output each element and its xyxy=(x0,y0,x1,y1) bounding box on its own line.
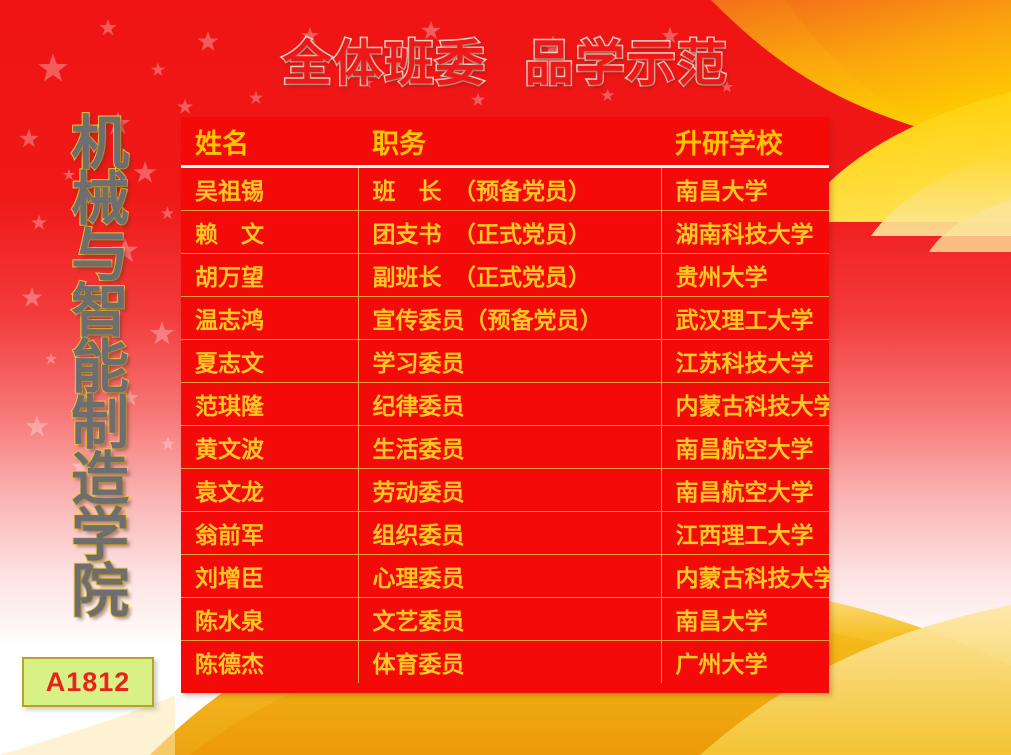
member-school: 南昌航空大学 xyxy=(661,469,829,512)
member-role: 生活委员 xyxy=(358,426,661,469)
member-role: 副班长 （正式党员） xyxy=(358,254,661,297)
member-school: 广州大学 xyxy=(661,641,829,684)
member-role: 心理委员 xyxy=(358,555,661,598)
member-name: 赖 文 xyxy=(181,211,358,254)
member-name: 黄文波 xyxy=(181,426,358,469)
member-school: 江苏科技大学 xyxy=(661,340,829,383)
member-school: 南昌大学 xyxy=(661,167,829,211)
table-row: 刘增臣心理委员内蒙古科技大学 xyxy=(181,555,829,598)
member-school: 江西理工大学 xyxy=(661,512,829,555)
member-name: 吴祖锡 xyxy=(181,167,358,211)
college-name-vertical: 机械与智能制造学院 xyxy=(48,112,124,616)
member-name: 温志鸿 xyxy=(181,297,358,340)
table-row: 胡万望副班长 （正式党员）贵州大学 xyxy=(181,254,829,297)
member-role: 体育委员 xyxy=(358,641,661,684)
member-role: 团支书 （正式党员） xyxy=(358,211,661,254)
table-row: 陈水泉文艺委员南昌大学 xyxy=(181,598,829,641)
class-badge: A1812 xyxy=(22,657,154,707)
table-body: 吴祖锡班 长 （预备党员）南昌大学赖 文团支书 （正式党员）湖南科技大学胡万望副… xyxy=(181,167,829,684)
member-role: 班 长 （预备党员） xyxy=(358,167,661,211)
member-school: 内蒙古科技大学 xyxy=(661,383,829,426)
member-school: 南昌航空大学 xyxy=(661,426,829,469)
table-row: 袁文龙劳动委员南昌航空大学 xyxy=(181,469,829,512)
table-row: 陈德杰体育委员广州大学 xyxy=(181,641,829,684)
class-badge-label: A1812 xyxy=(46,667,131,698)
member-name: 刘增臣 xyxy=(181,555,358,598)
member-name: 胡万望 xyxy=(181,254,358,297)
member-name: 陈水泉 xyxy=(181,598,358,641)
table-header: 姓名 职务 升研学校 xyxy=(181,117,829,167)
member-name: 翁前军 xyxy=(181,512,358,555)
table-row: 翁前军组织委员江西理工大学 xyxy=(181,512,829,555)
member-name: 袁文龙 xyxy=(181,469,358,512)
roster-table: 姓名 职务 升研学校 吴祖锡班 长 （预备党员）南昌大学赖 文团支书 （正式党员… xyxy=(181,117,829,683)
table-row: 吴祖锡班 长 （预备党员）南昌大学 xyxy=(181,167,829,211)
member-role: 宣传委员（预备党员） xyxy=(358,297,661,340)
table-row: 范琪隆纪律委员内蒙古科技大学 xyxy=(181,383,829,426)
column-header-role: 职务 xyxy=(358,117,661,167)
table-row: 温志鸿宣传委员（预备党员）武汉理工大学 xyxy=(181,297,829,340)
table-row: 赖 文团支书 （正式党员）湖南科技大学 xyxy=(181,211,829,254)
member-name: 陈德杰 xyxy=(181,641,358,684)
member-role: 组织委员 xyxy=(358,512,661,555)
roster-table-container: 姓名 职务 升研学校 吴祖锡班 长 （预备党员）南昌大学赖 文团支书 （正式党员… xyxy=(181,117,829,693)
table-row: 黄文波生活委员南昌航空大学 xyxy=(181,426,829,469)
member-role: 学习委员 xyxy=(358,340,661,383)
member-school: 内蒙古科技大学 xyxy=(661,555,829,598)
member-school: 贵州大学 xyxy=(661,254,829,297)
member-name: 夏志文 xyxy=(181,340,358,383)
slide-canvas: 全体班委 品学示范 机械与智能制造学院 A1812 姓名 职务 升研学校 吴祖锡… xyxy=(0,0,1011,755)
table-row: 夏志文学习委员江苏科技大学 xyxy=(181,340,829,383)
member-school: 湖南科技大学 xyxy=(661,211,829,254)
member-school: 南昌大学 xyxy=(661,598,829,641)
column-header-name: 姓名 xyxy=(181,117,358,167)
column-header-school: 升研学校 xyxy=(661,117,829,167)
table-header-row: 姓名 职务 升研学校 xyxy=(181,117,829,167)
member-school: 武汉理工大学 xyxy=(661,297,829,340)
member-name: 范琪隆 xyxy=(181,383,358,426)
member-role: 文艺委员 xyxy=(358,598,661,641)
member-role: 劳动委员 xyxy=(358,469,661,512)
member-role: 纪律委员 xyxy=(358,383,661,426)
